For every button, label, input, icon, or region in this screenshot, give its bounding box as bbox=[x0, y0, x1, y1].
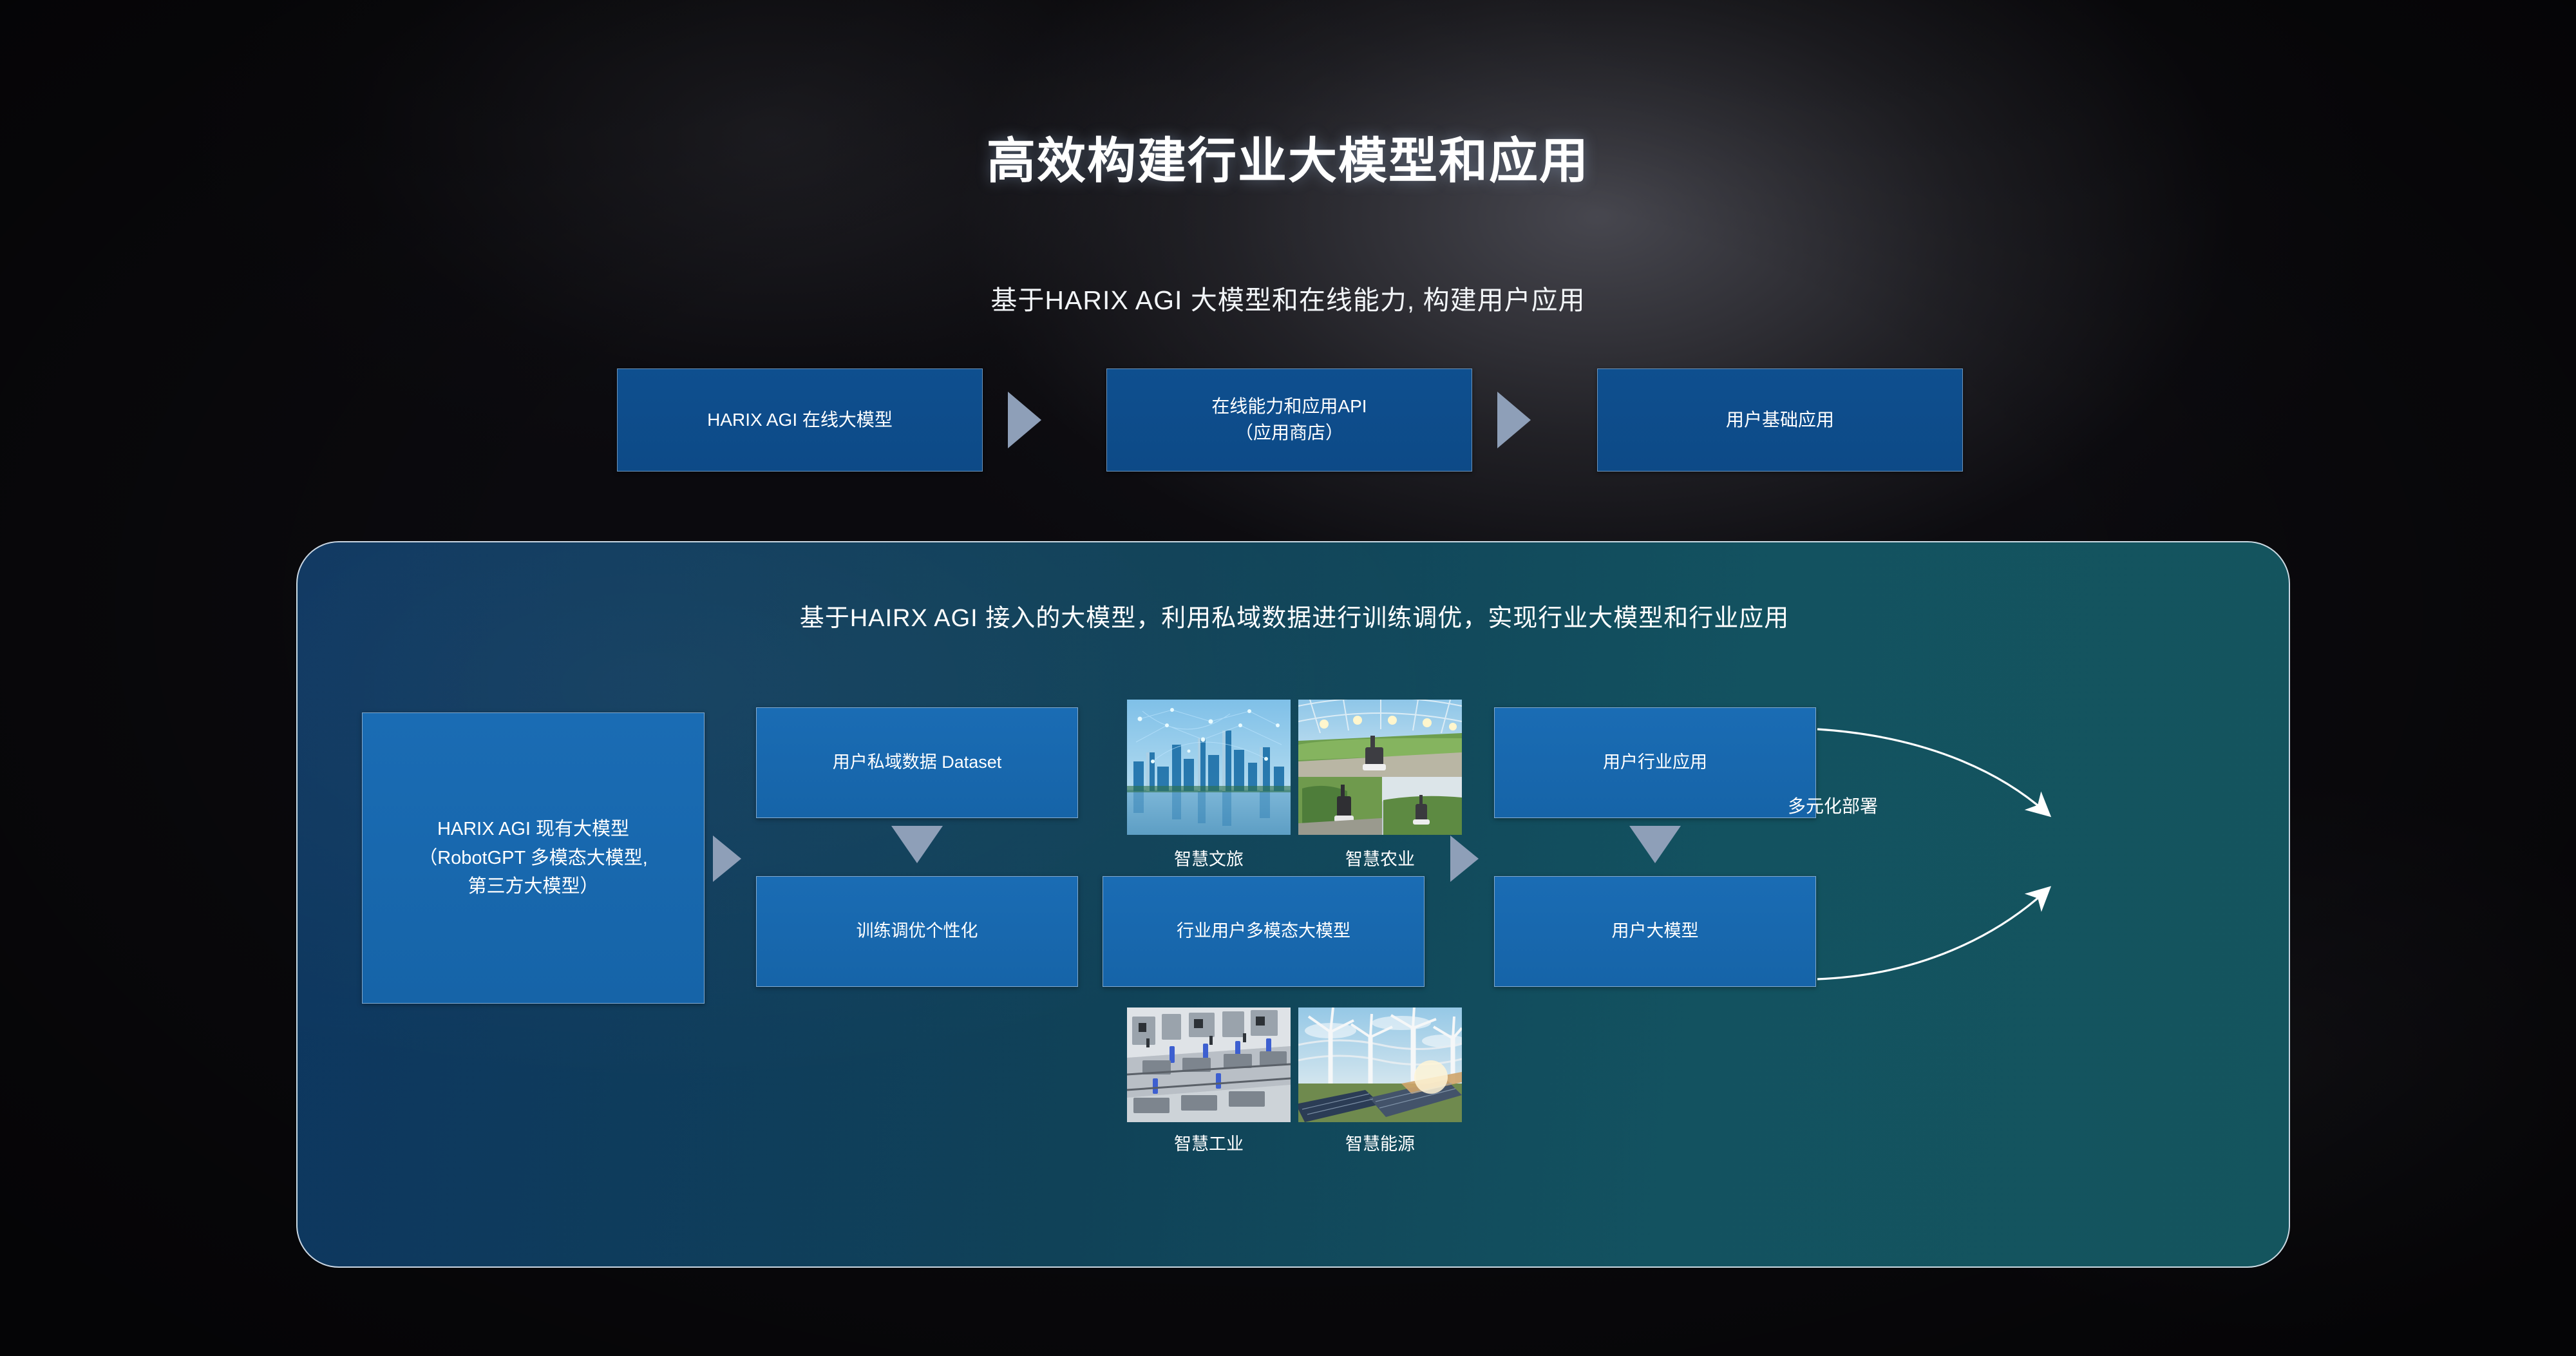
triangle-right-icon-1 bbox=[1008, 392, 1041, 448]
deploy-label: 多元化部署 bbox=[1749, 792, 1917, 818]
page-title: 高效构建行业大模型和应用 bbox=[0, 121, 2576, 192]
top-flow-step-3[interactable]: 用户基础应用 bbox=[1597, 368, 1963, 472]
top-flow-step-1-label: HARIX AGI 在线大模型 bbox=[707, 407, 893, 434]
page-subtitle: 基于HARIX AGI 大模型和在线能力, 构建用户应用 bbox=[0, 278, 2576, 317]
top-flow-step-2-label-line1: 在线能力和应用API bbox=[1211, 394, 1367, 420]
top-flow-step-2-label-line2: （应用商店） bbox=[1235, 420, 1343, 446]
industry-model-panel: 基于HAIRX AGI 接入的大模型，利用私域数据进行训练调优，实现行业大模型和… bbox=[296, 541, 2290, 1268]
triangle-right-icon-2 bbox=[1497, 392, 1531, 448]
top-flow-step-1[interactable]: HARIX AGI 在线大模型 bbox=[617, 368, 983, 472]
top-flow-step-3-label: 用户基础应用 bbox=[1726, 407, 1834, 434]
top-flow-row: HARIX AGI 在线大模型 在线能力和应用API （应用商店） 用户基础应用 bbox=[617, 368, 1963, 472]
top-flow-step-2[interactable]: 在线能力和应用API （应用商店） bbox=[1106, 368, 1472, 472]
deploy-arrow-bottom bbox=[1817, 890, 2047, 979]
deploy-arrows bbox=[298, 542, 2290, 1268]
